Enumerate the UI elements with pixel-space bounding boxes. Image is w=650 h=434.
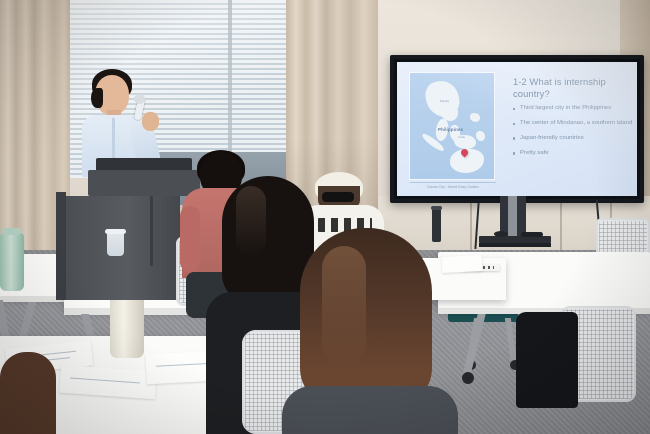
presentation-slide: Manila Cebu Philippines Davao City : Wor…	[397, 62, 637, 196]
shelf-cable-coil	[494, 231, 508, 237]
map-country-label: Philippines	[438, 127, 463, 132]
map-island-small	[476, 131, 485, 141]
table-caster	[462, 372, 474, 384]
presentation-room-photo: Manila Cebu Philippines Davao City : Wor…	[0, 0, 650, 434]
travel-tumbler[interactable]	[110, 296, 144, 358]
slide-bullet: The center of Mindanao, a southern islan…	[513, 120, 633, 127]
philippines-map-image: Manila Cebu Philippines	[410, 73, 494, 179]
slide-bullet: Pretty safe	[513, 150, 633, 157]
map-city-manila: Manila	[440, 99, 449, 103]
presenter-hair-side	[91, 88, 103, 108]
podium-top	[88, 170, 200, 196]
shelf-device	[521, 232, 543, 237]
slide-title: 1-2 What is internship country?	[513, 76, 631, 99]
microphone-cable	[150, 196, 153, 266]
presenter-hand	[142, 112, 159, 131]
podium-side-panel	[56, 192, 66, 300]
map-source-caption: Davao City : World Easy Guides	[410, 182, 496, 189]
attendee-brown-hair	[300, 228, 432, 408]
attendee-dark-hair-highlight	[236, 186, 266, 256]
podium-paper-cup[interactable]	[107, 232, 124, 256]
slide-bullet: Third largest city in the Philippines	[513, 105, 633, 112]
slide-bullet-list: Third largest city in the Philippines Th…	[513, 105, 633, 165]
podium-cup-lid	[105, 229, 126, 234]
bottle-cap[interactable]	[2, 228, 21, 235]
handout-paper[interactable]	[442, 255, 483, 273]
attendee-brown-hair-highlight	[322, 246, 366, 366]
attendee-edge-hair	[0, 352, 56, 434]
water-bottle[interactable]	[0, 233, 24, 291]
floor-bollard	[432, 208, 441, 242]
floor-bollard-cap	[431, 206, 442, 210]
slide-bullet: Japan-friendly countries	[513, 135, 633, 142]
map-island-small	[470, 113, 480, 122]
display-stand-shelf-edge	[479, 243, 551, 247]
coat-on-chair	[516, 312, 578, 408]
attendee-cap-strap	[322, 192, 354, 202]
map-city-cebu: Cebu	[458, 135, 465, 139]
attendee-brown-torso	[282, 386, 458, 434]
attendee-salmon-arm	[180, 206, 200, 272]
display-stand-shelf	[479, 236, 551, 243]
microphone-head	[134, 94, 145, 104]
